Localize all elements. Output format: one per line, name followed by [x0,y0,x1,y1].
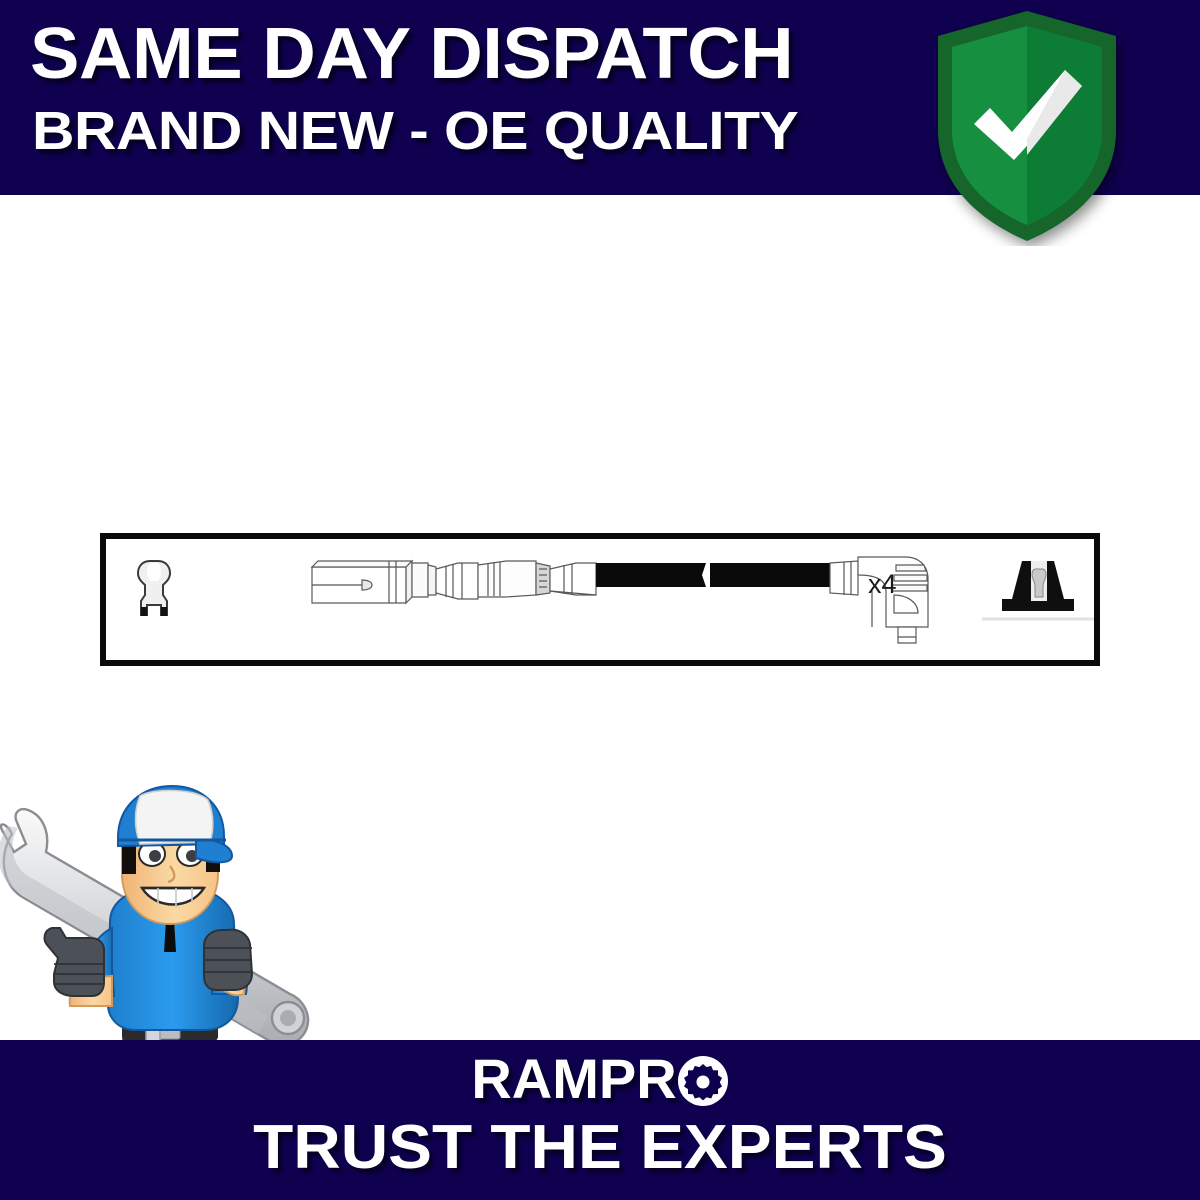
quantity-label: x4 [868,569,897,600]
product-diagram-box: x4 [100,533,1100,666]
shield-check-icon [930,8,1125,246]
spark-plug-terminal-icon [138,561,170,616]
ignition-lead-ribbed-sleeve [436,561,550,599]
distributor-boot-connector [312,561,436,603]
brand-tagline: TRUST THE EXPERTS [0,1113,1200,1183]
brand-name-text: RAMPR [471,1047,676,1110]
gear-o-logo-icon [677,1048,729,1110]
verified-shield-badge [930,8,1125,246]
brand-name: RAMPR [0,1048,1200,1110]
coil-boot-icon [982,561,1094,619]
ignition-lead-set-illustration [106,539,1094,660]
ignition-lead-cable [550,561,858,595]
promo-headline-primary: SAME DAY DISPATCH [30,14,793,94]
promo-headline-secondary: BRAND NEW - OE QUALITY [32,100,798,162]
